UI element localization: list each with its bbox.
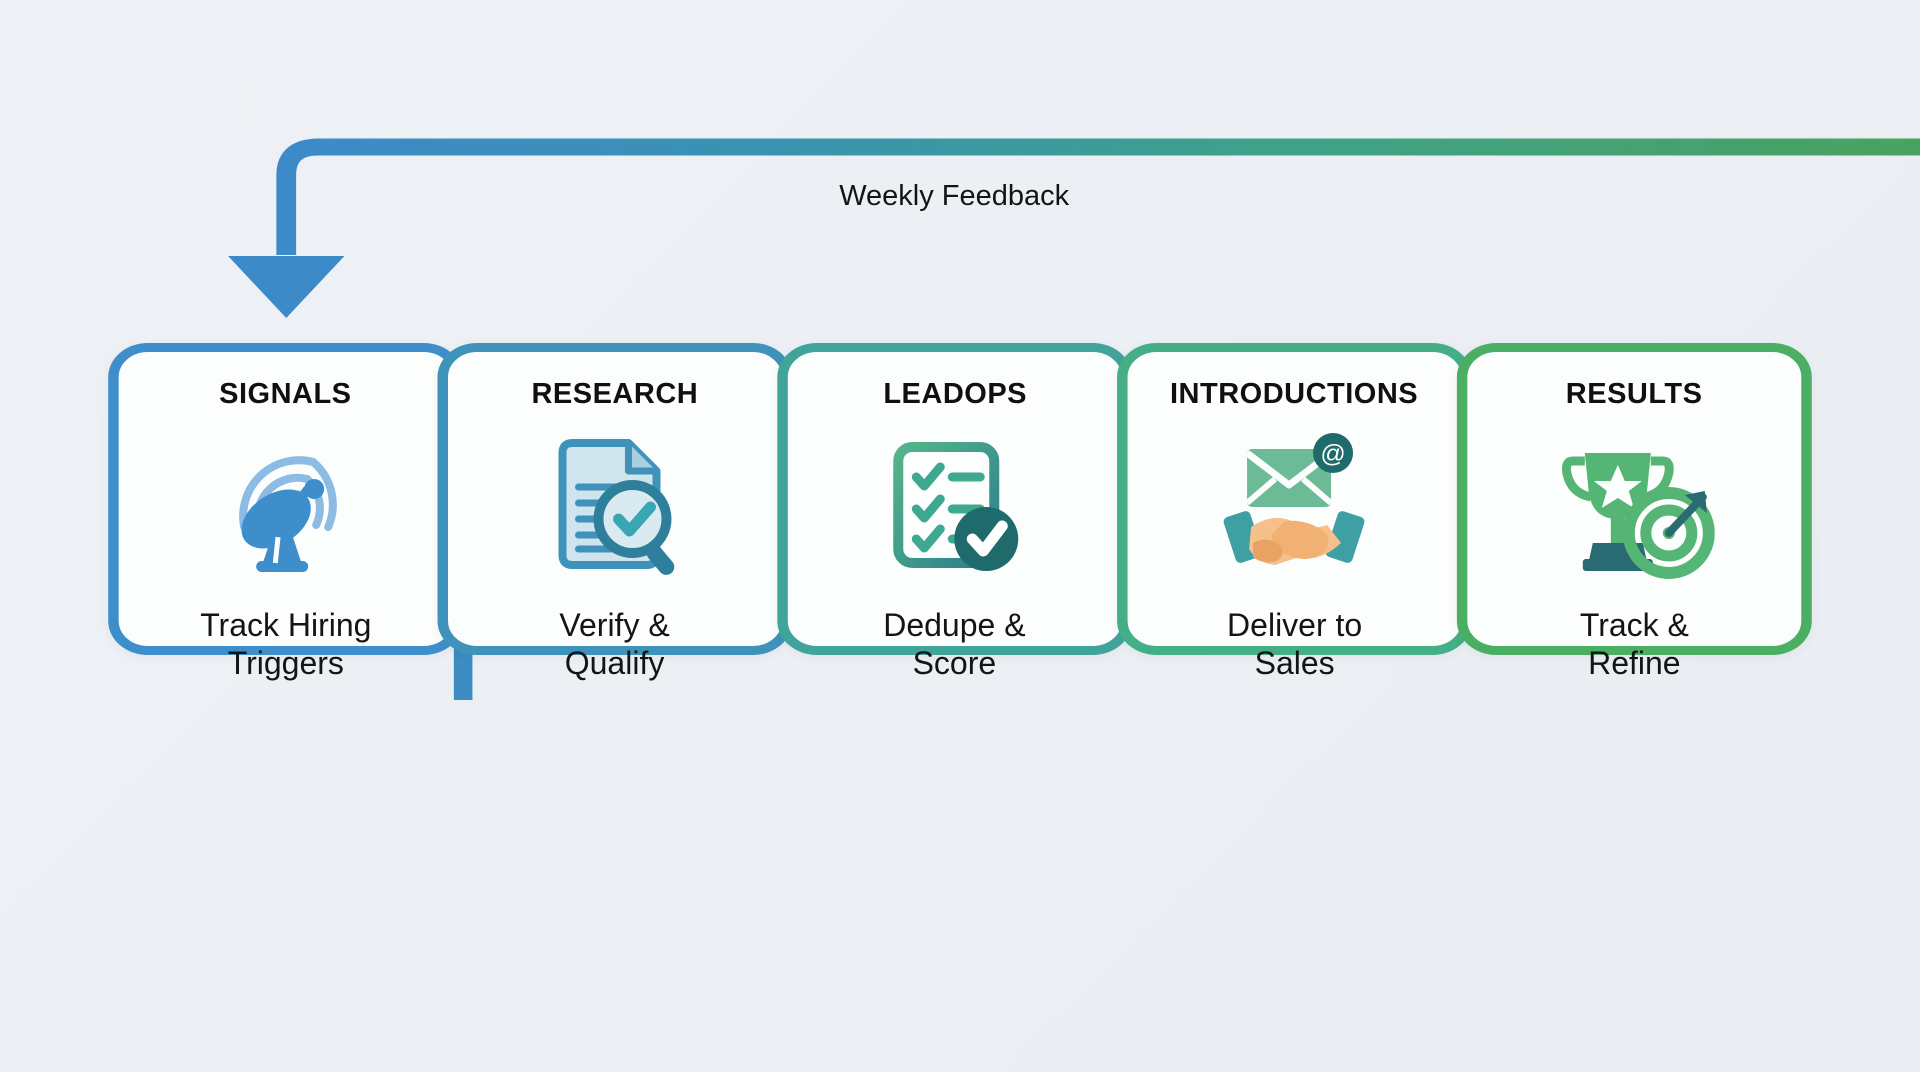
- stage-title-leadops: LEADOPS: [883, 380, 1027, 409]
- feedback-loop-arrow: [228, 147, 1920, 345]
- stage-desc-signals: Track Hiring Triggers: [190, 607, 381, 683]
- satellite-dish-icon: [142, 431, 429, 581]
- stage-card-research[interactable]: RESEARCH Verify & Qualify: [438, 343, 793, 655]
- stage-title-results: RESULTS: [1566, 380, 1703, 409]
- stage-card-introductions[interactable]: INTRODUCTIONS @ Deliver to Sales: [1117, 343, 1472, 655]
- stage-title-signals: SIGNALS: [219, 380, 351, 409]
- stage-title-research: RESEARCH: [532, 380, 699, 409]
- trophy-target-icon: [1491, 431, 1778, 581]
- stage-card-leadops[interactable]: LEADOPS: [777, 343, 1132, 655]
- stage-card-results[interactable]: RESULTS Track & Refine: [1457, 343, 1812, 655]
- stage-title-introductions: INTRODUCTIONS: [1170, 380, 1418, 409]
- stage-card-signals[interactable]: SIGNALS: [108, 343, 463, 655]
- stage-desc-results: Track & Refine: [1570, 607, 1699, 683]
- feedback-loop-label: Weekly Feedback: [794, 180, 1114, 213]
- document-magnifier-check-icon: [471, 431, 758, 581]
- diagram-canvas: Weekly Feedback SIGNALS: [0, 0, 1920, 1072]
- checklist-verified-icon: [811, 431, 1098, 581]
- handshake-email-icon: @: [1151, 431, 1438, 581]
- stage-desc-leadops: Dedupe & Score: [874, 607, 1036, 683]
- stage-desc-research: Verify & Qualify: [550, 607, 680, 683]
- svg-text:@: @: [1320, 440, 1345, 468]
- stage-desc-introductions: Deliver to Sales: [1217, 607, 1372, 683]
